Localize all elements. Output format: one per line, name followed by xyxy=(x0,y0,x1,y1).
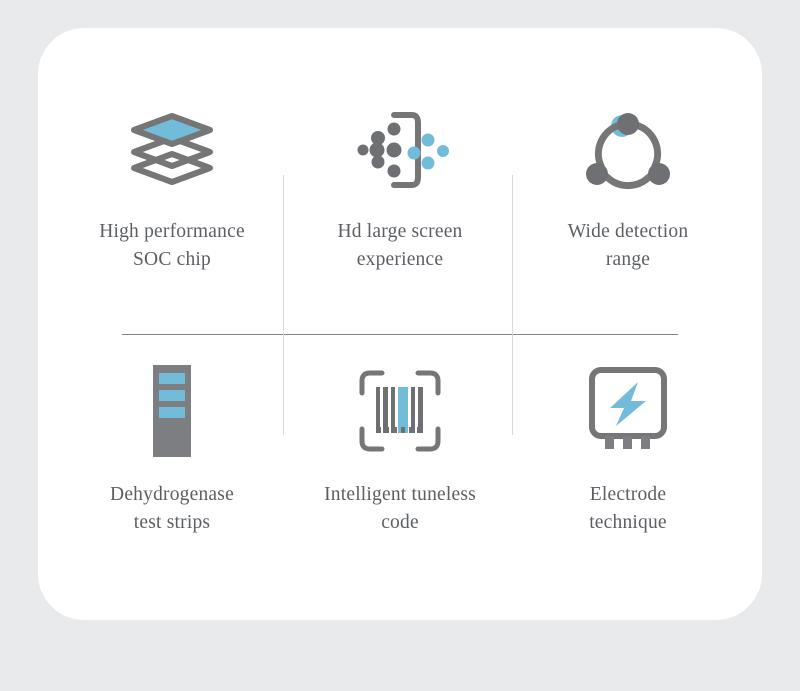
feature-label: Dehydrogenase test strips xyxy=(110,481,234,536)
feature-item-hd-screen[interactable]: Hd large screen experience xyxy=(286,74,514,327)
feature-item-barcode[interactable]: Intelligent tuneless code xyxy=(286,327,514,580)
feature-label-line1: Dehydrogenase xyxy=(110,481,234,509)
feature-label-line2: experience xyxy=(338,246,463,274)
feature-label-line2: technique xyxy=(589,509,667,537)
layers-stack-icon xyxy=(124,104,220,196)
feature-item-test-strips[interactable]: Dehydrogenase test strips xyxy=(58,327,286,580)
feature-item-soc-chip[interactable]: High performance SOC chip xyxy=(58,74,286,327)
feature-label: High performance SOC chip xyxy=(99,218,245,273)
feature-label-line2: code xyxy=(324,509,476,537)
feature-label-line1: Wide detection xyxy=(568,218,689,246)
barcode-scan-icon xyxy=(357,365,443,457)
feature-label-line2: SOC chip xyxy=(99,246,245,274)
feature-label: Wide detection range xyxy=(568,218,689,273)
page-root: High performance SOC chip xyxy=(0,0,800,691)
screen-particles-icon xyxy=(350,104,450,196)
test-strip-icon xyxy=(150,365,194,457)
feature-label-line2: test strips xyxy=(110,509,234,537)
feature-item-detection-range[interactable]: Wide detection range xyxy=(514,74,742,327)
feature-label: Electrode technique xyxy=(589,481,667,536)
electrode-chip-icon xyxy=(586,365,670,457)
feature-label-line1: High performance xyxy=(99,218,245,246)
feature-label-line1: Electrode xyxy=(589,481,667,509)
feature-label: Hd large screen experience xyxy=(338,218,463,273)
feature-label-line2: range xyxy=(568,246,689,274)
feature-label-line1: Intelligent tuneless xyxy=(324,481,476,509)
feature-label-line1: Hd large screen xyxy=(338,218,463,246)
feature-grid: High performance SOC chip xyxy=(38,28,762,620)
feature-label: Intelligent tuneless code xyxy=(324,481,476,536)
feature-card: High performance SOC chip xyxy=(38,28,762,620)
feature-item-electrode[interactable]: Electrode technique xyxy=(514,327,742,580)
share-network-icon xyxy=(584,104,672,196)
